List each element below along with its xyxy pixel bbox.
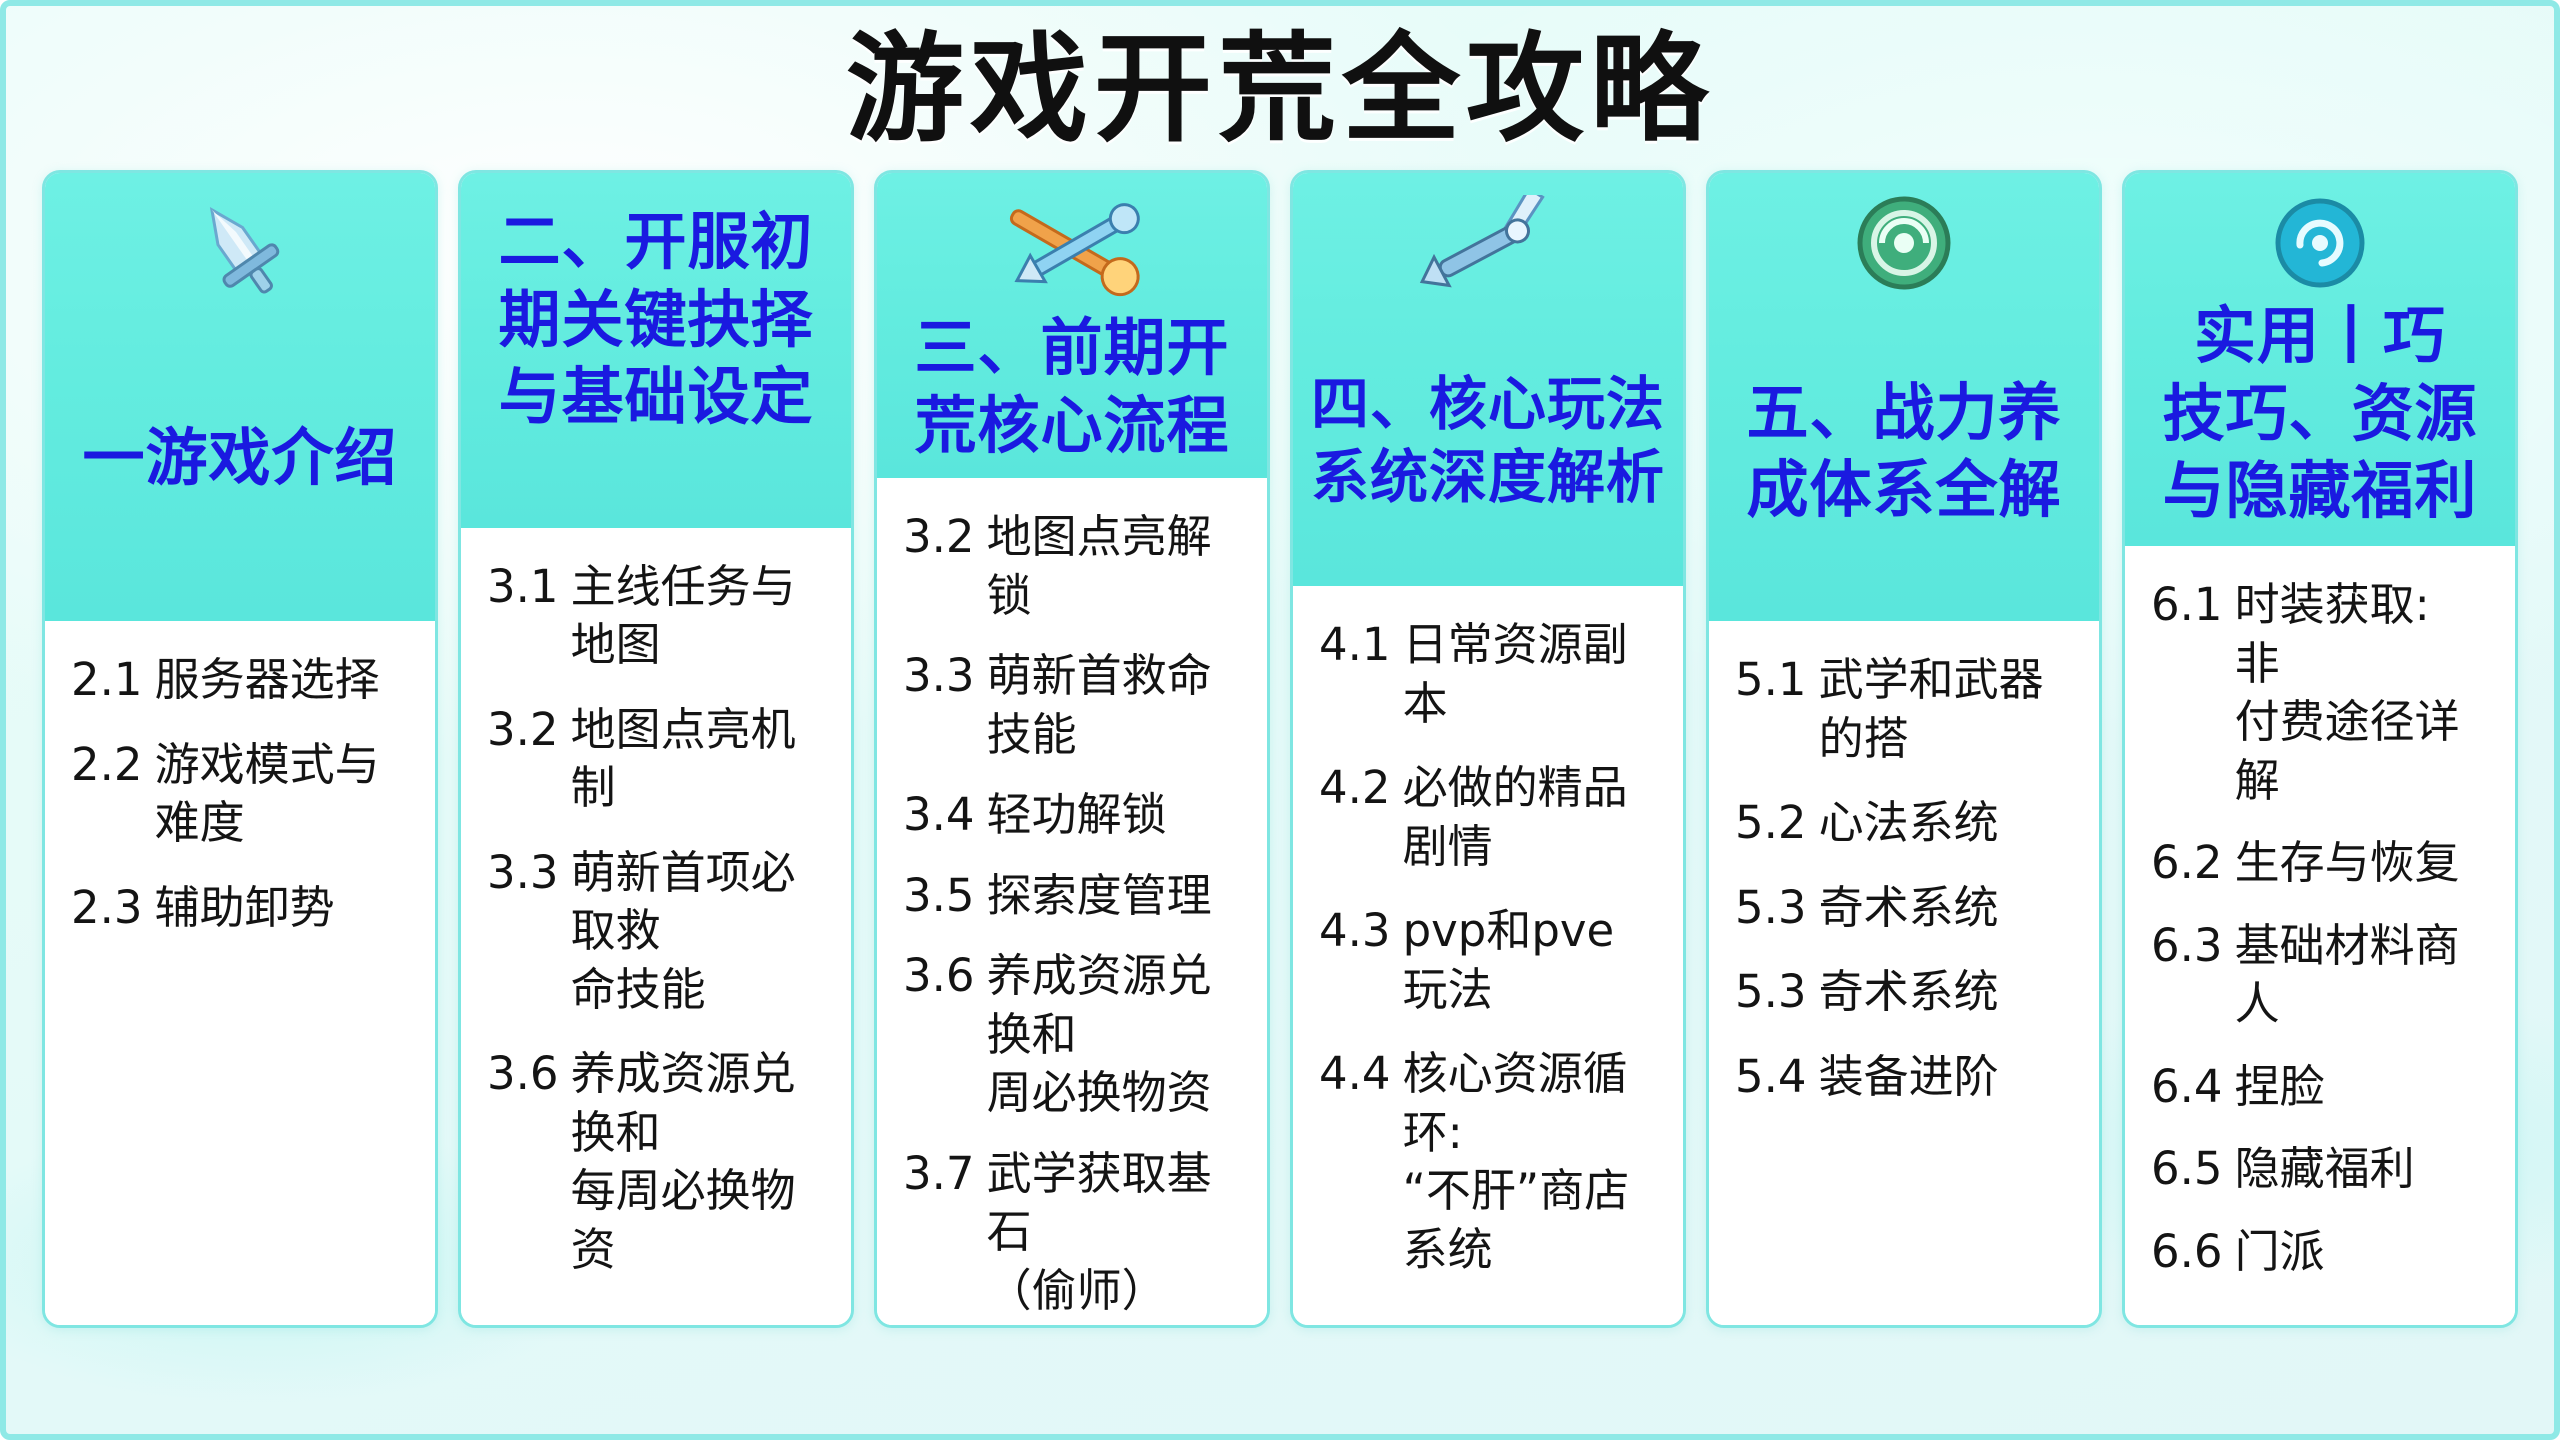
item-number: 3.4: [903, 786, 975, 845]
list-item[interactable]: 4.1 日常资源副本: [1319, 616, 1657, 733]
section-header-4: 四、核心玩法 系统深度解析: [1293, 173, 1683, 586]
section-header-6: 实用⼁巧 技巧、资源 与隐藏福利: [2125, 173, 2515, 546]
list-item[interactable]: 3.7 武学获取基石 （偷师）: [903, 1145, 1241, 1321]
spear-icon: [1403, 195, 1573, 305]
list-item[interactable]: 6.2 生存与恢复: [2151, 834, 2489, 893]
section-body-5: 5.1 武学和武器的搭 5.2 心法系统 5.3 奇术系统 5.3 奇术系统 5…: [1709, 621, 2099, 1325]
item-number: 3.5: [903, 867, 975, 926]
item-text: 武学获取基石 （偷师）: [987, 1145, 1241, 1321]
item-number: 3.2: [487, 701, 559, 818]
item-number: 3.1: [487, 558, 559, 675]
section-body-2: 3.1 主线任务与地图 3.2 地图点亮机制 3.3 萌新首项必取救 命技能 3…: [461, 528, 851, 1326]
item-text: 心法系统: [1819, 794, 2073, 853]
item-number: 3.2: [903, 508, 975, 625]
item-text: 探索度管理: [987, 867, 1241, 926]
section-heading-wrap-4: 四、核心玩法 系统深度解析: [1303, 309, 1673, 572]
list-item[interactable]: 3.3 萌新首救命技能: [903, 647, 1241, 764]
item-number: 6.5: [2151, 1140, 2223, 1199]
item-number: 4.2: [1319, 759, 1391, 876]
crossed-weapons-icon: [987, 195, 1157, 305]
list-item[interactable]: 2.3 辅助卸势: [71, 879, 409, 938]
item-number: 6.4: [2151, 1058, 2223, 1117]
item-number: 4.1: [1319, 616, 1391, 733]
item-text: 地图点亮机制: [571, 701, 825, 818]
section-heading-1: 一游戏介绍: [82, 419, 397, 497]
item-number: 2.2: [71, 736, 143, 853]
item-number: 3.3: [487, 844, 559, 1020]
list-item[interactable]: 5.2 心法系统: [1735, 794, 2073, 853]
item-number: 4.4: [1319, 1045, 1391, 1279]
list-item[interactable]: 5.4 装备进阶: [1735, 1048, 2073, 1107]
item-number: 6.1: [2151, 576, 2223, 810]
list-item[interactable]: 3.5 探索度管理: [903, 867, 1241, 926]
section-heading-2: 二、开服初 期关键抉择 与基础设定: [498, 203, 813, 436]
section-heading-wrap-3: 三、前期开 荒核心流程: [887, 309, 1257, 464]
list-item[interactable]: 4.3 pvp和pve玩法: [1319, 902, 1657, 1019]
list-item[interactable]: 4.2 必做的精品剧情: [1319, 759, 1657, 876]
item-text: 必做的精品剧情: [1403, 759, 1657, 876]
page-title: 游戏开荒全攻略: [6, 6, 2554, 156]
section-body-3: 3.2 地图点亮解锁 3.3 萌新首救命技能 3.4 轻功解锁 3.5 探索度管…: [877, 478, 1267, 1328]
item-number: 5.1: [1735, 651, 1807, 768]
item-text: 养成资源兑换和 周必换物资: [987, 947, 1241, 1123]
item-number: 6.6: [2151, 1223, 2223, 1282]
list-item[interactable]: 3.1 主线任务与地图: [487, 558, 825, 675]
item-number: 5.4: [1735, 1048, 1807, 1107]
item-text: 养成资源兑换和 每周必换物资: [571, 1045, 825, 1279]
list-item[interactable]: 3.3 萌新首项必取救 命技能: [487, 844, 825, 1020]
item-number: 5.3: [1735, 963, 1807, 1022]
section-card-6[interactable]: 实用⼁巧 技巧、资源 与隐藏福利 6.1 时装获取: 非 付费途径详解 6.2 …: [2122, 170, 2518, 1328]
columns-container: 一游戏介绍 2.1 服务器选择 2.2 游戏模式与难度 2.3 辅助卸势: [6, 156, 2554, 1356]
section-card-1[interactable]: 一游戏介绍 2.1 服务器选择 2.2 游戏模式与难度 2.3 辅助卸势: [42, 170, 438, 1328]
list-item[interactable]: 6.5 隐藏福利: [2151, 1140, 2489, 1199]
list-item[interactable]: 4.4 核心资源循环: “不肝”商店系统: [1319, 1045, 1657, 1279]
list-item[interactable]: 5.3 奇术系统: [1735, 963, 2073, 1022]
section-body-1: 2.1 服务器选择 2.2 游戏模式与难度 2.3 辅助卸势: [45, 621, 435, 1325]
section-heading-3: 三、前期开 荒核心流程: [914, 309, 1229, 464]
item-text: 门派: [2235, 1223, 2489, 1282]
list-item[interactable]: 6.6 门派: [2151, 1223, 2489, 1282]
item-number: 5.2: [1735, 794, 1807, 853]
item-number: 6.3: [2151, 917, 2223, 1034]
item-text: 地图点亮解锁: [987, 508, 1241, 625]
item-text: 日常资源副本: [1403, 616, 1657, 733]
section-body-6: 6.1 时装获取: 非 付费途径详解 6.2 生存与恢复 6.3 基础材料商人 …: [2125, 546, 2515, 1325]
section-header-2: 二、开服初 期关键抉择 与基础设定: [461, 173, 851, 528]
item-number: 5.3: [1735, 879, 1807, 938]
item-number: 3.7: [903, 1145, 975, 1321]
item-text: 奇术系统: [1819, 963, 2073, 1022]
item-text: pvp和pve玩法: [1403, 902, 1657, 1019]
item-number: 6.2: [2151, 834, 2223, 893]
section-header-5: 五、战力养 成体系全解: [1709, 173, 2099, 621]
item-number: 3.6: [487, 1045, 559, 1279]
item-number: 2.3: [71, 879, 143, 938]
item-text: 时装获取: 非 付费途径详解: [2235, 576, 2489, 810]
list-item[interactable]: 3.6 养成资源兑换和 周必换物资: [903, 947, 1241, 1123]
item-number: 4.3: [1319, 902, 1391, 1019]
section-heading-wrap-6: 实用⼁巧 技巧、资源 与隐藏福利: [2135, 295, 2505, 532]
item-number: 3.3: [903, 647, 975, 764]
list-item[interactable]: 6.3 基础材料商人: [2151, 917, 2489, 1034]
section-heading-wrap-1: 一游戏介绍: [55, 309, 425, 607]
section-header-3: 三、前期开 荒核心流程: [877, 173, 1267, 478]
item-text: 武学和武器的搭: [1819, 651, 2073, 768]
dagger-icon: [165, 195, 315, 305]
item-text: 生存与恢复: [2235, 834, 2489, 893]
section-body-4: 4.1 日常资源副本 4.2 必做的精品剧情 4.3 pvp和pve玩法 4.4…: [1293, 586, 1683, 1325]
list-item[interactable]: 5.1 武学和武器的搭: [1735, 651, 2073, 768]
item-number: 3.6: [903, 947, 975, 1123]
section-heading-5: 五、战力养 成体系全解: [1746, 374, 2061, 529]
list-item[interactable]: 5.3 奇术系统: [1735, 879, 2073, 938]
guide-poster: 游戏开荒全攻略 一游戏介绍: [0, 0, 2560, 1440]
item-text: 奇术系统: [1819, 879, 2073, 938]
item-text: 游戏模式与难度: [155, 736, 409, 853]
section-heading-wrap-2: 二、开服初 期关键抉择 与基础设定: [471, 203, 841, 514]
list-item[interactable]: 3.2 地图点亮解锁: [903, 508, 1241, 625]
item-text: 捏脸: [2235, 1058, 2489, 1117]
item-number: 2.1: [71, 651, 143, 710]
item-text: 服务器选择: [155, 651, 409, 710]
list-item[interactable]: 6.1 时装获取: 非 付费途径详解: [2151, 576, 2489, 810]
list-item[interactable]: 6.4 捏脸: [2151, 1058, 2489, 1117]
section-card-2[interactable]: 二、开服初 期关键抉择 与基础设定 3.1 主线任务与地图 3.2 地图点亮机制…: [458, 170, 854, 1328]
item-text: 基础材料商人: [2235, 917, 2489, 1034]
list-item[interactable]: 3.4 轻功解锁: [903, 786, 1241, 845]
section-heading-4: 四、核心玩法 系统深度解析: [1311, 368, 1665, 513]
section-heading-wrap-5: 五、战力养 成体系全解: [1719, 295, 2089, 607]
list-item[interactable]: 3.2 地图点亮机制: [487, 701, 825, 818]
blue-orb-icon: [2260, 195, 2380, 291]
item-text: 萌新首项必取救 命技能: [571, 844, 825, 1020]
item-text: 隐藏福利: [2235, 1140, 2489, 1199]
section-card-4[interactable]: 四、核心玩法 系统深度解析 4.1 日常资源副本 4.2 必做的精品剧情 4.3…: [1290, 170, 1686, 1328]
list-item[interactable]: 3.6 养成资源兑换和 每周必换物资: [487, 1045, 825, 1279]
item-text: 主线任务与地图: [571, 558, 825, 675]
list-item[interactable]: 2.1 服务器选择: [71, 651, 409, 710]
list-item[interactable]: 2.2 游戏模式与难度: [71, 736, 409, 853]
section-header-1: 一游戏介绍: [45, 173, 435, 621]
green-orb-icon: [1844, 195, 1964, 291]
section-card-3[interactable]: 三、前期开 荒核心流程 3.2 地图点亮解锁 3.3 萌新首救命技能 3.4 轻…: [874, 170, 1270, 1328]
item-text: 轻功解锁: [987, 786, 1241, 845]
item-text: 装备进阶: [1819, 1048, 2073, 1107]
item-text: 辅助卸势: [155, 879, 409, 938]
item-text: 萌新首救命技能: [987, 647, 1241, 764]
item-text: 核心资源循环: “不肝”商店系统: [1403, 1045, 1657, 1279]
section-heading-6: 实用⼁巧 技巧、资源 与隐藏福利: [2162, 297, 2477, 530]
section-card-5[interactable]: 五、战力养 成体系全解 5.1 武学和武器的搭 5.2 心法系统 5.3 奇术系…: [1706, 170, 2102, 1328]
